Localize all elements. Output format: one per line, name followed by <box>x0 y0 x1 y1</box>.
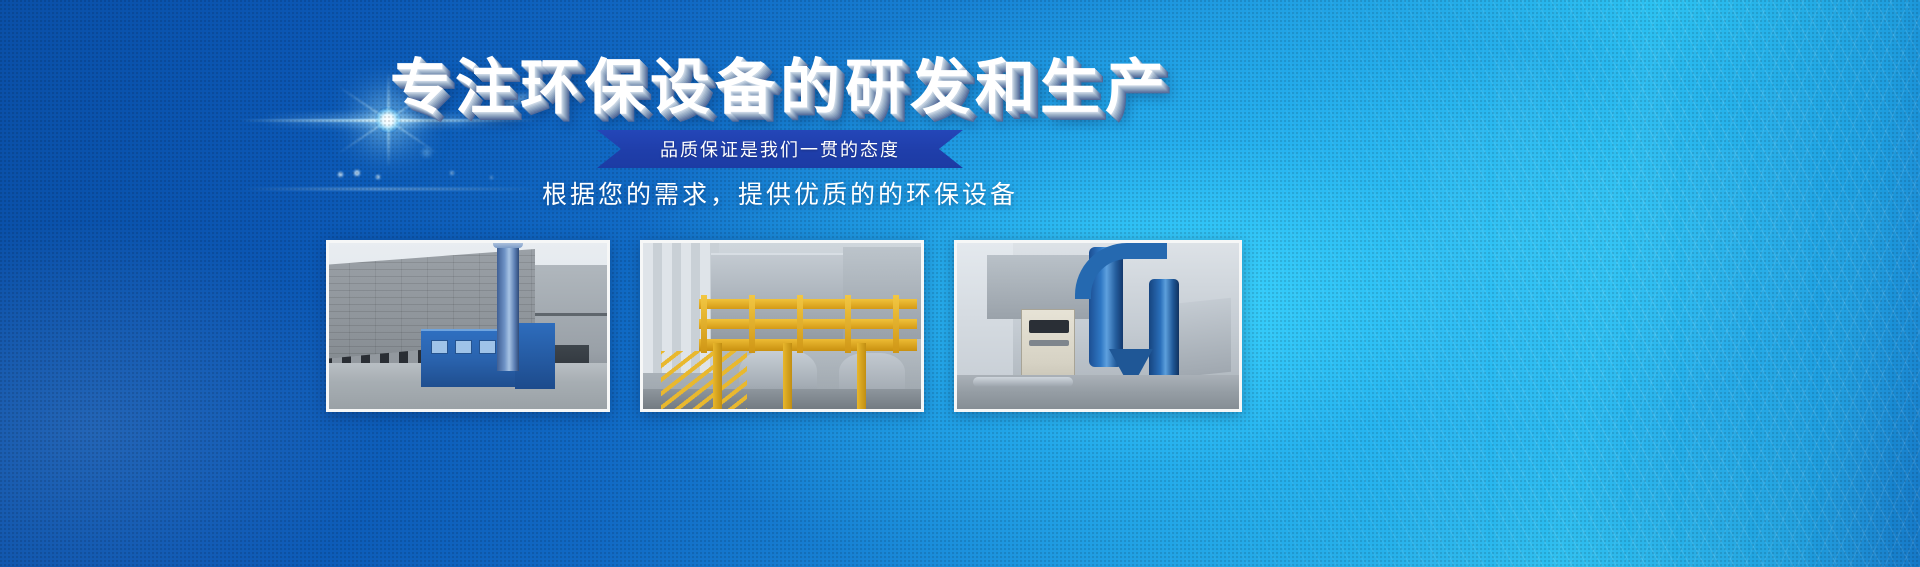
hero-banner: 专注环保设备的研发和生产 品质保证是我们一贯的态度 根据您的需求，提供优质的的环… <box>0 0 1920 567</box>
page-title: 专注环保设备的研发和生产 <box>0 56 1560 119</box>
gallery-photo-2[interactable] <box>640 240 924 412</box>
blue-ducting-dust-collector-system <box>957 243 1239 409</box>
industrial-plant-exterior-with-stack <box>329 243 607 409</box>
ribbon-label: 品质保证是我们一贯的态度 <box>660 136 900 162</box>
gallery-photo-3[interactable] <box>954 240 1242 412</box>
subtitle: 根据您的需求，提供优质的的环保设备 <box>0 175 1560 211</box>
photo-gallery <box>326 240 1242 412</box>
quality-ribbon-badge: 品质保证是我们一贯的态度 <box>597 130 963 168</box>
gallery-photo-1[interactable] <box>326 240 610 412</box>
yellow-railing-platform-equipment <box>643 243 921 409</box>
